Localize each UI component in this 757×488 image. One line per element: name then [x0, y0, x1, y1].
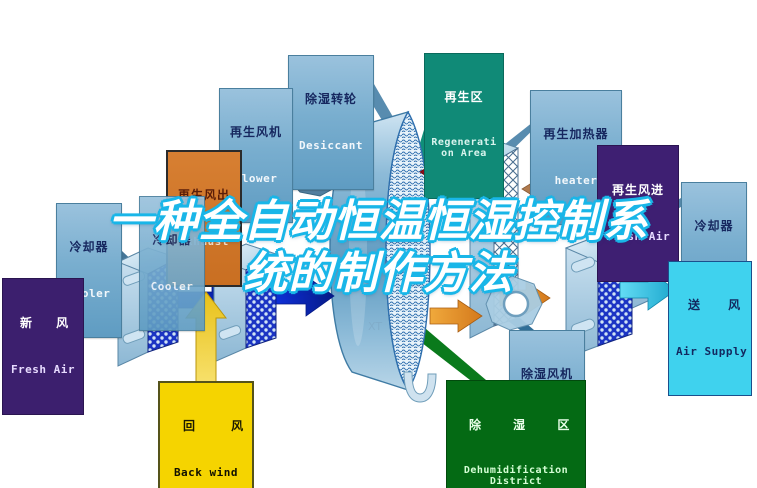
label-desiccant-rotor: 除湿转轮 Desiccant [288, 55, 374, 190]
label-cn: 冷却器 [62, 241, 116, 254]
label-back-wind: 回 风 Back wind [158, 381, 254, 488]
label-cn: 新 风 [10, 317, 76, 330]
drain-pan [404, 372, 436, 402]
label-cn: 冷却器 [145, 234, 199, 247]
label-regeneration-fresh-air: 再生风进 Fresh Air [597, 145, 679, 282]
label-air-supply: 送 风 Air Supply [668, 261, 752, 396]
label-cn: 再生区 [431, 91, 497, 104]
label-cooler-left-2: 冷却器 Cooler [139, 196, 205, 331]
label-en: Fresh Air [10, 364, 76, 376]
label-en: Dehumidification District [455, 466, 577, 488]
label-en: Air Supply [676, 346, 744, 358]
label-en: Fresh Air [606, 231, 670, 243]
label-regeneration-area: 再生区 Regenerati on Area [424, 53, 504, 199]
label-en: Back wind [167, 467, 245, 479]
label-cn: 回 风 [167, 420, 245, 433]
label-cn: 除 湿 区 [455, 419, 577, 432]
svg-text:XT: XT [368, 320, 382, 333]
label-cn: 冷却器 [687, 220, 741, 233]
label-cn: 除湿风机 [515, 368, 579, 381]
label-fresh-air-inlet: 新 风 Fresh Air [2, 278, 84, 415]
label-cn: 除湿转轮 [294, 93, 368, 106]
label-cn: 再生风机 [225, 126, 287, 139]
diagram-canvas: XT [0, 0, 757, 488]
label-cn: 再生风进 [606, 184, 670, 197]
label-dehumidification-district: 除 湿 区 Dehumidification District [446, 380, 586, 488]
label-en: Regenerati on Area [431, 138, 497, 160]
label-cn: 再生加热器 [536, 128, 616, 141]
label-cn: 送 风 [676, 299, 744, 312]
label-en: Desiccant [294, 140, 368, 152]
label-en: Cooler [145, 281, 199, 293]
